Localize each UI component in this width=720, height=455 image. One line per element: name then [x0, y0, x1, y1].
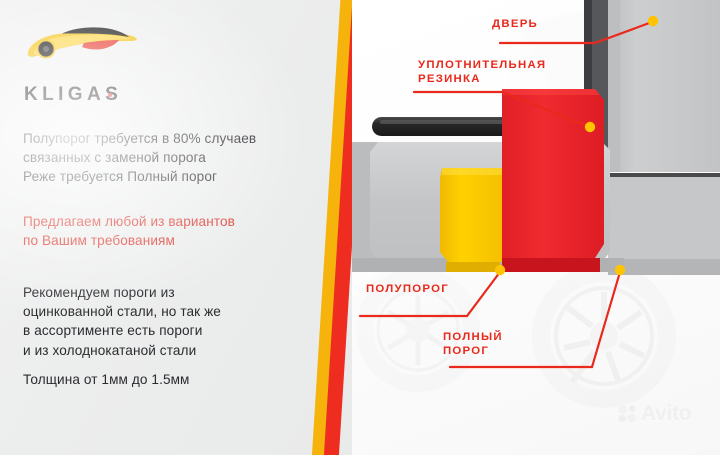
- yellow-dot-half-sill: [495, 265, 505, 275]
- full-sill-part: [502, 89, 604, 272]
- callout-label-seal: УПЛОТНИТЕЛЬНАЯ РЕЗИНКА: [418, 59, 546, 86]
- avito-wordmark: Avito: [641, 403, 691, 424]
- ghost-wheel-right: [532, 264, 676, 408]
- callout-label-full-sill: ПОЛНЫЙ ПОРОГ: [443, 331, 503, 358]
- half-sill-part: [440, 168, 502, 272]
- yellow-dot-door: [648, 16, 658, 26]
- yellow-dot-seal: [585, 122, 595, 132]
- paragraph-offer: Предлагаем любой из вариантов по Вашим т…: [23, 212, 235, 250]
- advertisement-poster: KLIGAS Полупорог требуется в 80% случаев…: [0, 0, 720, 455]
- brand-accent-dot: [108, 93, 112, 97]
- avito-watermark: Avito: [618, 403, 691, 424]
- callout-label-door: ДВЕРЬ: [492, 18, 538, 32]
- yellow-dot-full-sill: [615, 265, 625, 275]
- callout-label-half-sill: ПОЛУПОРОГ: [366, 283, 449, 297]
- avito-logo-icon: [618, 404, 637, 423]
- paragraph-thickness: Толщина от 1мм до 1.5мм: [23, 370, 190, 389]
- paragraph-recommend: Рекомендуем пороги из оцинкованной стали…: [23, 283, 221, 360]
- brand-logo: KLIGAS: [22, 22, 172, 90]
- paragraph-intro: Полупорог требуется в 80% случаев связан…: [23, 129, 256, 187]
- sports-car-icon: [22, 22, 140, 64]
